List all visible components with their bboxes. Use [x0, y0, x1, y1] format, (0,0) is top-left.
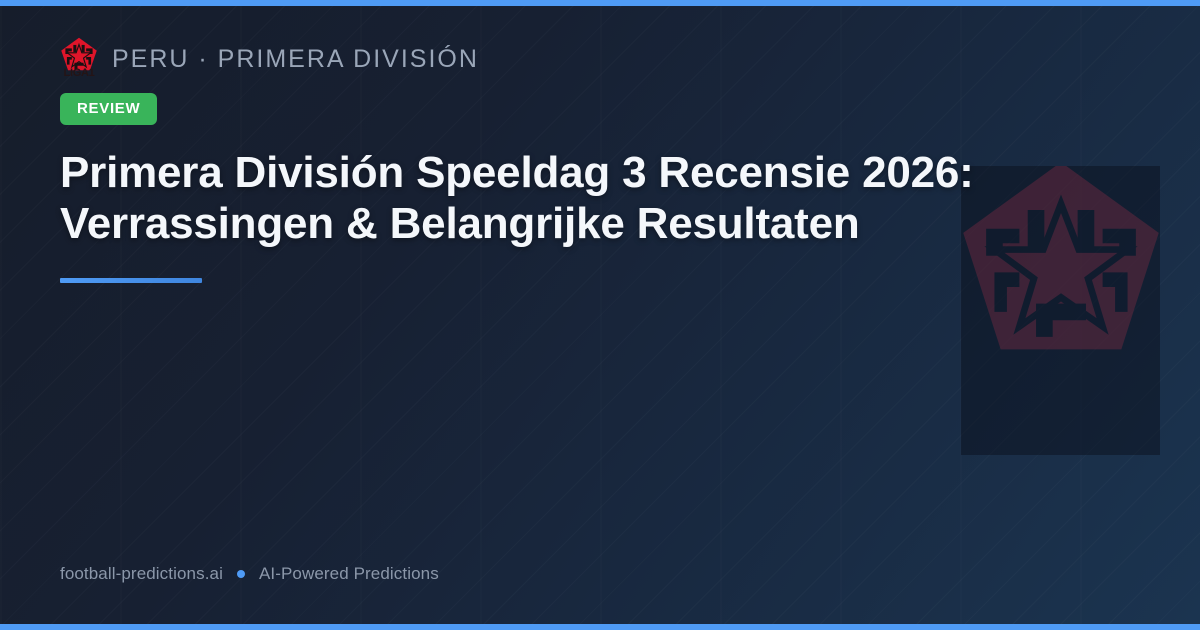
bottom-accent-bar [0, 624, 1200, 630]
status-badge-review: REVIEW [60, 93, 157, 125]
league-header: LIGA1 PERU · PRIMERA DIVISIÓN [60, 36, 1140, 82]
liga1-crest-icon [60, 37, 98, 71]
top-accent-bar [0, 0, 1200, 6]
footer: football-predictions.ai AI-Powered Predi… [60, 564, 439, 584]
social-share-card: LIGA1 PERU · PRIMERA DIVISIÓN REVIEW Pri… [0, 0, 1200, 630]
card-content: LIGA1 PERU · PRIMERA DIVISIÓN REVIEW Pri… [0, 0, 1200, 630]
page-title: Primera División Speeldag 3 Recensie 202… [60, 147, 1050, 250]
blue-dot-icon [237, 570, 245, 578]
liga1-wordmark: LIGA1 [60, 67, 98, 79]
badge-row: REVIEW [60, 93, 1140, 125]
league-breadcrumb: PERU · PRIMERA DIVISIÓN [112, 45, 479, 74]
title-underline-divider [60, 278, 202, 283]
liga1-peru-logo: LIGA1 [60, 37, 98, 81]
footer-site-name: football-predictions.ai [60, 564, 223, 584]
footer-tagline: AI-Powered Predictions [259, 564, 439, 584]
